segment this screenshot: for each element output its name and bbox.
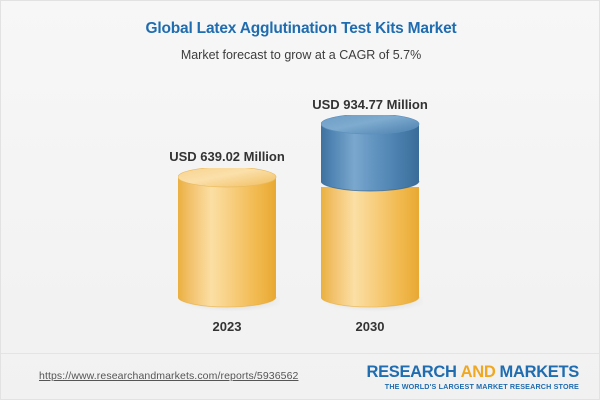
bar-value-label-2023: USD 639.02 Million [117,149,337,165]
logo-tagline: THE WORLD'S LARGEST MARKET RESEARCH STOR… [366,382,579,391]
logo-word-and: AND [461,363,496,381]
logo-word-markets: MARKETS [500,363,579,381]
bar-cylinder-2030[interactable] [321,115,423,314]
logo-word-research: RESEARCH [366,363,456,381]
chart-plot-area: USD 639.02 Million [1,1,600,353]
report-url-link[interactable]: https://www.researchandmarkets.com/repor… [39,370,298,382]
bar-value-label-2030: USD 934.77 Million [260,97,480,113]
logo-wordmark: RESEARCHANDMARKETS [366,363,579,381]
infographic-canvas: Global Latex Agglutination Test Kits Mar… [0,0,600,400]
category-label-2030: 2030 [260,319,480,335]
bar-cylinder-2023[interactable] [178,168,280,314]
research-and-markets-logo[interactable]: RESEARCHANDMARKETS THE WORLD'S LARGEST M… [366,363,579,391]
footer: https://www.researchandmarkets.com/repor… [1,354,600,400]
